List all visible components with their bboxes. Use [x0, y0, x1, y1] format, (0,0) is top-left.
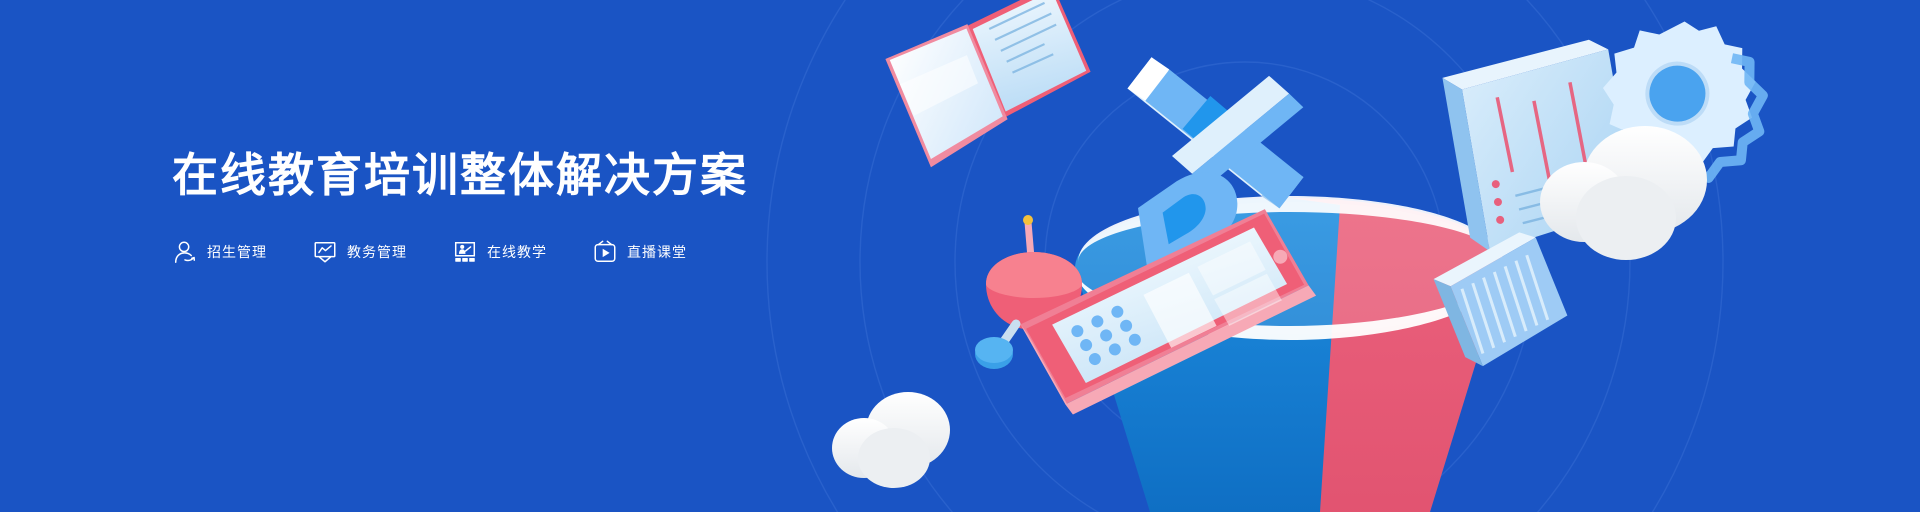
- feature-label: 在线教学: [487, 242, 547, 262]
- banner-text-block: 在线教育培训整体解决方案 招生管理 教务管理: [172, 150, 748, 265]
- page-title: 在线教育培训整体解决方案: [172, 150, 748, 201]
- feature-item-live-class[interactable]: 直播课堂: [592, 239, 687, 265]
- open-book: [878, 0, 1104, 172]
- tv-play-icon: [592, 239, 618, 265]
- teacher-board-icon: [452, 239, 478, 265]
- education-banner: 在线教育培训整体解决方案 招生管理 教务管理: [0, 0, 1920, 512]
- chart-board-icon: [312, 239, 338, 265]
- feature-item-enrollment[interactable]: 招生管理: [172, 239, 267, 265]
- feature-label: 直播课堂: [627, 242, 687, 262]
- feature-item-academic[interactable]: 教务管理: [312, 239, 407, 265]
- feature-item-online-teaching[interactable]: 在线教学: [452, 239, 547, 265]
- feature-row: 招生管理 教务管理: [172, 239, 748, 265]
- cloud-small: [832, 392, 950, 488]
- feature-label: 教务管理: [347, 242, 407, 262]
- feature-label: 招生管理: [207, 242, 267, 262]
- education-illustration: [820, 0, 1920, 512]
- user-add-icon: [172, 239, 198, 265]
